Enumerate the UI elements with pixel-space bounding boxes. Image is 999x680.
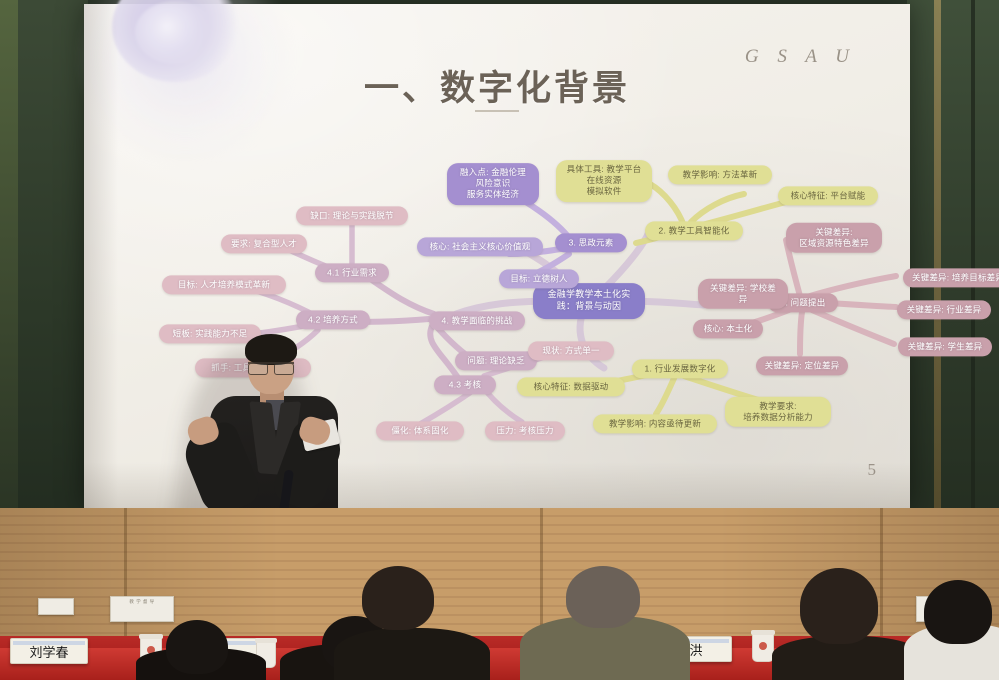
wood-seam-1 bbox=[124, 508, 127, 648]
mindmap-node-industry-diff[interactable]: 关键差异: 行业差异 bbox=[897, 300, 991, 319]
mindmap-node-system-rigid[interactable]: 僵化: 体系固化 bbox=[376, 421, 464, 440]
mindmap-branch-2[interactable]: 2. 教学工具智能化 bbox=[645, 221, 743, 240]
mindmap-node-single-method[interactable]: 现状: 方式单一 bbox=[528, 341, 614, 360]
mindmap-node-student-diff[interactable]: 关键差异: 学生差异 bbox=[898, 337, 992, 356]
audience-head-2 bbox=[362, 566, 434, 630]
paper-cup-3-lid bbox=[751, 630, 775, 635]
mindmap-branch-4[interactable]: 4. 教学面临的挑战 bbox=[429, 311, 525, 330]
nameplate-left: 刘学春 bbox=[10, 638, 88, 664]
mindmap-node-moral-education[interactable]: 目标: 立德树人 bbox=[499, 269, 579, 288]
mindmap-node-content-update[interactable]: 教学影响: 内容亟待更新 bbox=[593, 414, 717, 433]
glasses-icon bbox=[248, 362, 294, 371]
wall-plaque-left-text: 教 学 督 导 bbox=[111, 597, 173, 605]
wall-right-trim-dark bbox=[971, 0, 975, 520]
paper-cup-3-logo bbox=[759, 642, 767, 650]
mindmap-node-4-2[interactable]: 4.2 培养方式 bbox=[296, 310, 370, 329]
screen-shadow-left bbox=[84, 4, 118, 508]
audience-head-3 bbox=[566, 566, 640, 628]
mindmap-node-theory-practice-gap[interactable]: 缺口: 理论与实践脱节 bbox=[296, 206, 408, 225]
mindmap-node-data-analysis-skill[interactable]: 教学要求: 培养数据分析能力 bbox=[725, 397, 831, 427]
mindmap-branch-3[interactable]: 3. 思政元素 bbox=[555, 233, 627, 252]
wall-left-band bbox=[0, 0, 18, 520]
mindmap-node-data-driven[interactable]: 核心特征: 数据驱动 bbox=[517, 377, 625, 396]
wood-seam-3 bbox=[880, 508, 883, 648]
paper-cup-3 bbox=[752, 632, 774, 662]
mindmap-node-concrete-tools[interactable]: 具体工具: 教学平台 在线资源 模拟软件 bbox=[556, 160, 652, 202]
mindmap-node-platform-empower[interactable]: 核心特征: 平台赋能 bbox=[778, 186, 878, 205]
mindmap-node-talent-model-reform[interactable]: 目标: 人才培养模式革新 bbox=[162, 275, 286, 294]
mindmap-node-method-innovation[interactable]: 教学影响: 方法革新 bbox=[668, 165, 772, 184]
mindmap-node-core-values[interactable]: 核心: 社会主义核心价值观 bbox=[417, 237, 543, 256]
mindmap-node-4-1[interactable]: 4.1 行业需求 bbox=[315, 263, 389, 282]
mindmap-center-node[interactable]: 金融学教学本土化实践：背景与动因 bbox=[533, 283, 645, 319]
presenter-hair bbox=[245, 334, 297, 365]
wall-right-trim bbox=[934, 0, 941, 520]
paper-cup-1-lid bbox=[139, 634, 163, 639]
mindmap-node-exam-pressure[interactable]: 压力: 考核压力 bbox=[485, 421, 565, 440]
audience-head-6 bbox=[166, 620, 228, 674]
mindmap-node-integration-points[interactable]: 融入点: 金融伦理 风险意识 服务实体经济 bbox=[447, 163, 539, 205]
wall-right bbox=[907, 0, 999, 520]
wall-socket-left bbox=[38, 598, 74, 615]
mindmap-node-localization[interactable]: 核心: 本土化 bbox=[693, 319, 763, 338]
audience-head-5 bbox=[924, 580, 992, 644]
mindmap-node-4-3[interactable]: 4.3 考核 bbox=[434, 375, 496, 394]
paper-cup-2-lid bbox=[255, 638, 277, 643]
audience-head-4 bbox=[800, 568, 878, 644]
mindmap-node-goal-diff[interactable]: 关键差异: 培养目标差异 bbox=[903, 268, 999, 287]
mindmap-node-school-diff[interactable]: 关键差异: 学校差异 bbox=[698, 279, 788, 309]
wall-plaque-left: 教 学 督 导 bbox=[110, 596, 174, 622]
mindmap-node-theory-lack[interactable]: 问题: 理论缺乏 bbox=[455, 351, 537, 370]
mindmap-node-regional-diff[interactable]: 关键差异: 区域资源特色差异 bbox=[786, 223, 882, 253]
mindmap-branch-1[interactable]: 1. 行业发展数字化 bbox=[632, 359, 728, 378]
audience-shoulders-2 bbox=[334, 628, 490, 680]
mindmap-node-composite-talent[interactable]: 要求: 复合型人才 bbox=[221, 234, 307, 253]
mindmap-node-position-diff[interactable]: 关键差异: 定位差异 bbox=[756, 356, 848, 375]
photo-scene: 一、数字化背景 G S A U 5 bbox=[0, 0, 999, 680]
nameplate-left-bar bbox=[13, 641, 85, 645]
